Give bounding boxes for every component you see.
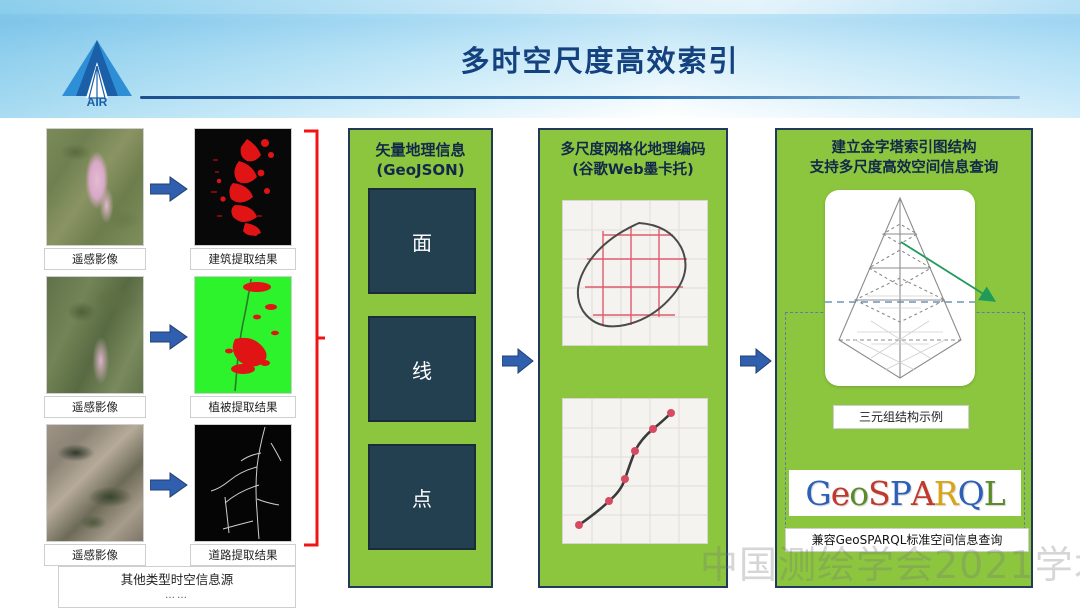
pyramid-caption: 三元组结构示例 xyxy=(833,405,969,429)
image-caption: 建筑提取结果 xyxy=(190,248,296,270)
geosparql-letter-r: R xyxy=(934,474,958,513)
panel-title-line1: 矢量地理信息 xyxy=(350,140,491,160)
building-extraction-result-thumbnail xyxy=(194,128,292,246)
remote-sensing-image-thumbnail xyxy=(46,424,144,542)
panel-title: 矢量地理信息 (GeoJSON) xyxy=(350,140,491,180)
panel-title-line2: (谷歌Web墨卡托) xyxy=(540,160,726,180)
panel-grid-geocoding: 多尺度网格化地理编码 (谷歌Web墨卡托) xyxy=(538,128,728,588)
panel-title-line2: 支持多尺度高效空间信息查询 xyxy=(777,158,1031,178)
imagery-row: 遥感影像 植被提取结果 xyxy=(44,276,299,416)
air-logo: AIR xyxy=(60,36,134,108)
imagery-row: 遥感影像 道路提取结果 xyxy=(44,424,299,564)
panel-title: 建立金字塔索引图结构 支持多尺度高效空间信息查询 xyxy=(777,138,1031,178)
geosparql-letter-p: P xyxy=(890,474,911,513)
geosparql-letter-l: L xyxy=(984,474,1005,513)
remote-sensing-image-thumbnail xyxy=(46,276,144,394)
vegetation-extraction-result-thumbnail xyxy=(194,276,292,394)
image-caption: 植被提取结果 xyxy=(190,396,296,418)
image-caption: 遥感影像 xyxy=(44,544,146,566)
page-title: 多时空尺度高效索引 xyxy=(300,38,900,80)
process-arrow-icon xyxy=(150,472,188,498)
slide-header: AIR 多时空尺度高效索引 xyxy=(0,0,1080,118)
image-caption: 遥感影像 xyxy=(44,248,146,270)
process-arrow-icon xyxy=(150,176,188,202)
grouping-bracket xyxy=(300,128,326,548)
image-caption: 道路提取结果 xyxy=(190,544,296,566)
panel-title: 多尺度网格化地理编码 (谷歌Web墨卡托) xyxy=(540,140,726,180)
slide-root: AIR 多时空尺度高效索引 xyxy=(0,0,1080,607)
other-sources-ellipsis: …… xyxy=(59,590,295,601)
svg-text:AIR: AIR xyxy=(87,95,108,108)
line-grid-diagram xyxy=(562,398,708,544)
panel-title-line2: (GeoJSON) xyxy=(350,160,491,180)
other-sources-label: 其他类型时空信息源 xyxy=(121,572,234,587)
imagery-row: 遥感影像 建筑提取结果 xyxy=(44,128,299,268)
geosparql-caption: 兼容GeoSPARQL标准空间信息查询 xyxy=(785,528,1029,552)
panel-pyramid-index: 建立金字塔索引图结构 支持多尺度高效空间信息查询 xyxy=(775,128,1033,588)
geosparql-logo: G e o S P A R Q L xyxy=(789,470,1021,516)
vector-type-line[interactable]: 线 xyxy=(368,316,476,422)
query-arrow-icon xyxy=(897,238,1017,316)
title-underline xyxy=(140,96,1020,99)
geosparql-letter-a: A xyxy=(911,474,934,513)
image-caption: 遥感影像 xyxy=(44,396,146,418)
flow-arrow-icon xyxy=(502,348,534,374)
vector-type-polygon[interactable]: 面 xyxy=(368,188,476,294)
panel-title-line1: 建立金字塔索引图结构 xyxy=(777,138,1031,158)
remote-sensing-image-thumbnail xyxy=(46,128,144,246)
polygon-grid-diagram xyxy=(562,200,708,346)
geosparql-letter-o: o xyxy=(849,474,868,513)
geosparql-letter-g: G xyxy=(805,474,830,513)
geosparql-letter-q: Q xyxy=(958,474,984,513)
road-extraction-result-thumbnail xyxy=(194,424,292,542)
panel-title-line1: 多尺度网格化地理编码 xyxy=(540,140,726,160)
panel-vector-geo-info: 矢量地理信息 (GeoJSON) 面 线 点 xyxy=(348,128,493,588)
vector-type-point[interactable]: 点 xyxy=(368,444,476,550)
flow-arrow-icon xyxy=(740,348,772,374)
geosparql-letter-s: S xyxy=(868,474,890,513)
geosparql-letter-e: e xyxy=(831,474,850,513)
process-arrow-icon xyxy=(150,324,188,350)
other-sources-box: 其他类型时空信息源 …… xyxy=(58,566,296,608)
source-imagery-column: 遥感影像 建筑提取结果 xyxy=(44,128,299,598)
